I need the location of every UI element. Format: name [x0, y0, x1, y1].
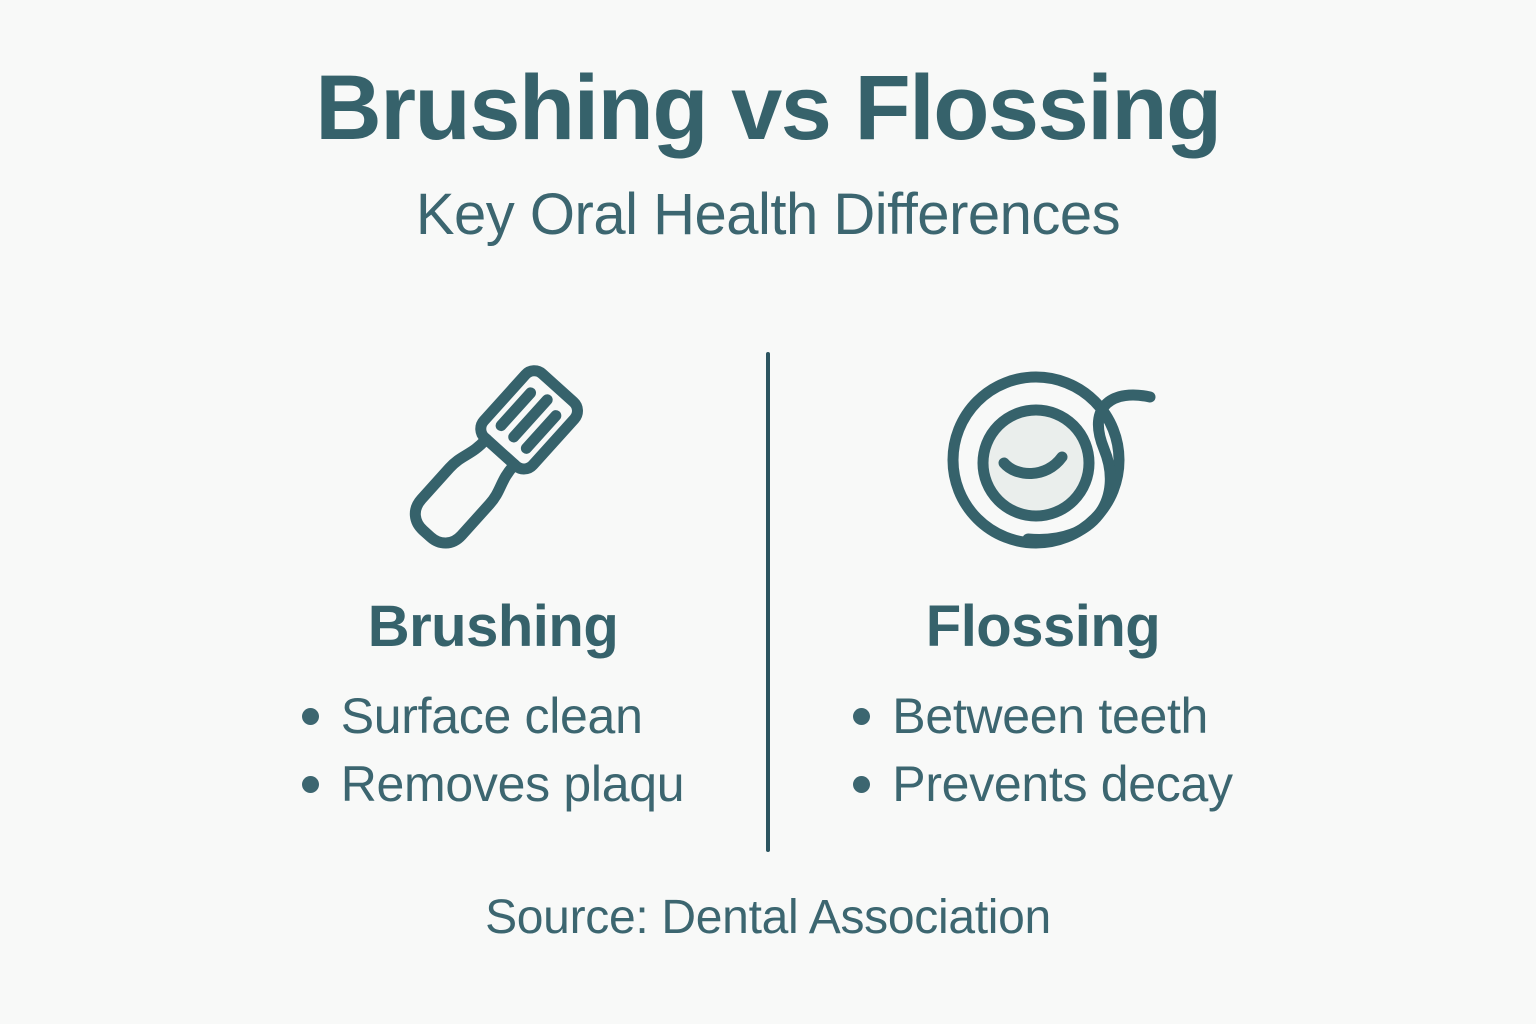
page-subtitle: Key Oral Health Differences	[0, 154, 1536, 244]
column-flossing: Flossing Between teeth Prevents decay	[803, 340, 1283, 818]
header: Brushing vs Flossing Key Oral Health Dif…	[0, 62, 1536, 244]
column-brushing: Brushing Surface clean Removes plaqu	[253, 340, 733, 818]
source-attribution: Source: Dental Association	[0, 890, 1536, 945]
list-item: Between teeth	[853, 682, 1232, 750]
bullet-dot-icon	[853, 708, 870, 725]
bullet-dot-icon	[302, 708, 319, 725]
column-heading-flossing: Flossing	[926, 580, 1160, 656]
bullet-text: Prevents decay	[892, 759, 1232, 809]
column-divider	[766, 352, 770, 852]
comparison-columns: Brushing Surface clean Removes plaqu	[0, 340, 1536, 860]
bullet-dot-icon	[302, 776, 319, 793]
bullet-text: Removes plaqu	[341, 759, 685, 809]
bullet-text: Between teeth	[892, 691, 1208, 741]
bullet-text: Surface clean	[341, 691, 643, 741]
floss-spool-icon	[928, 340, 1158, 580]
list-item: Removes plaqu	[302, 750, 685, 818]
list-item: Prevents decay	[853, 750, 1232, 818]
footer: Source: Dental Association	[0, 890, 1536, 945]
list-item: Surface clean	[302, 682, 685, 750]
infographic-canvas: Brushing vs Flossing Key Oral Health Dif…	[0, 0, 1536, 1024]
bullet-list-brushing: Surface clean Removes plaqu	[302, 656, 685, 818]
page-title: Brushing vs Flossing	[0, 62, 1536, 154]
column-heading-brushing: Brushing	[368, 580, 619, 656]
toothbrush-icon	[378, 340, 608, 580]
bullet-dot-icon	[853, 776, 870, 793]
bullet-list-flossing: Between teeth Prevents decay	[853, 656, 1232, 818]
